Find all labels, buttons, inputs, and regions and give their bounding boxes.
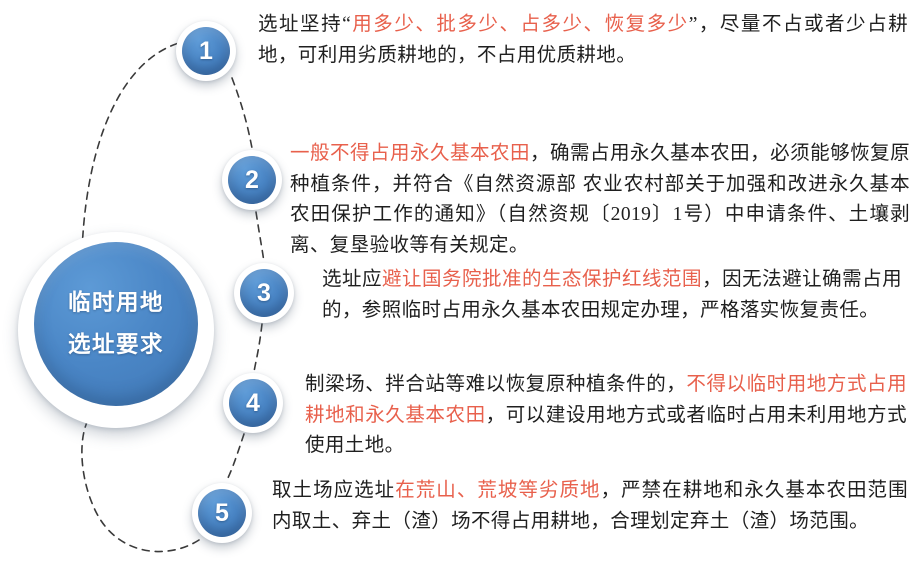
node-circle-3[interactable]: 3 [240,269,288,317]
node-circle-5[interactable]: 5 [198,489,246,537]
item-text-5: 取土场应选址在荒山、荒坡等劣质地，严禁在耕地和永久基本农田范围内取土、弃土（渣）… [272,476,908,537]
item-3-segment-2: 避让国务院批准的生态保护红线范围 [382,269,702,290]
item-text-1: 选址坚持“用多少、批多少、占多少、恢复多少”，尽量不占或者少占耕地，可利用劣质耕… [258,10,908,71]
item-3-segment-1: 选址应 [322,269,382,290]
item-1-segment-2: 用多少、批多少、占多少、恢复多少 [351,14,689,35]
node-circle-2[interactable]: 2 [228,156,276,204]
item-5-segment-1: 取土场应选址 [272,480,395,501]
node-circle-4[interactable]: 4 [229,379,277,427]
item-4-segment-1: 制梁场、拌合站等难以恢复原种植条件的， [305,374,686,395]
item-text-4: 制梁场、拌合站等难以恢复原种植条件的，不得以临时用地方式占用耕地和永久基本农田，… [305,370,907,462]
diagram-canvas: 临时用地 选址要求 1 选址坚持“用多少、批多少、占多少、恢复多少”，尽量不占或… [0,0,924,580]
item-1-segment-1: 选址坚持“ [258,14,351,35]
item-5-segment-2: 在荒山、荒坡等劣质地 [395,480,600,501]
item-2-segment-1: 一般不得占用永久基本农田 [290,143,530,164]
hub-circle[interactable] [34,242,198,406]
item-text-3: 选址应避让国务院批准的生态保护红线范围，因无法避让确需占用的，参照临时占用永久基… [322,265,902,326]
item-text-2: 一般不得占用永久基本农田，确需占用永久基本农田，必须能够恢复原种植条件，并符合《… [290,139,910,261]
node-circle-1[interactable]: 1 [182,27,230,75]
